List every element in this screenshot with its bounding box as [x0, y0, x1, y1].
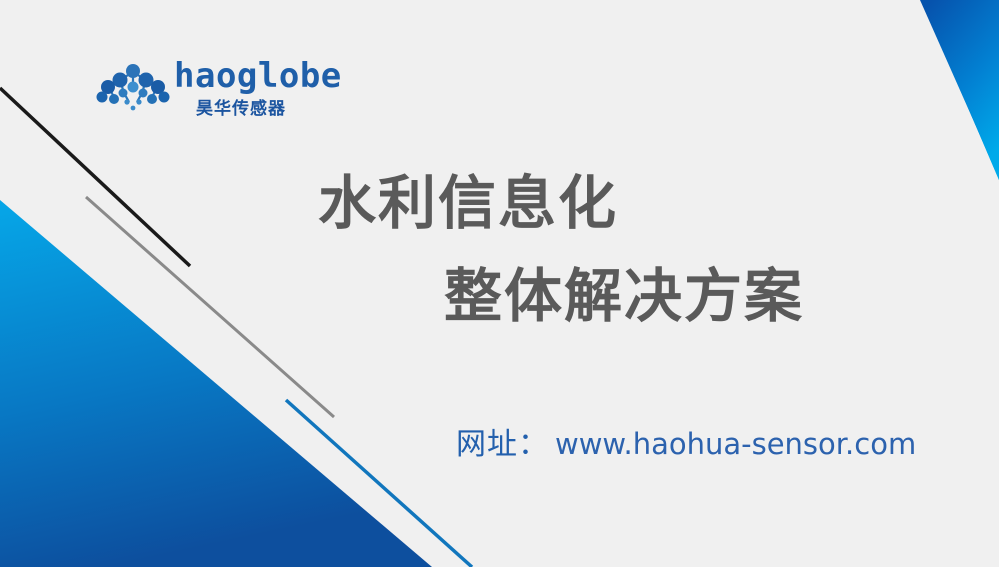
website-row: 网址： www.haohua-sensor.com	[456, 419, 916, 463]
haoglobe-dot-cluster-logo-icon	[96, 60, 170, 116]
page-title-line-2: 整体解决方案	[444, 265, 804, 327]
website-label: 网址：	[456, 419, 549, 463]
website-url[interactable]: www.haohua-sensor.com	[555, 427, 916, 461]
logo-text-group: haoglobe 昊华传感器	[174, 58, 324, 116]
logo-subtitle: 昊华传感器	[196, 94, 286, 119]
logo-wordmark: haoglobe	[174, 58, 342, 94]
presentation-title-slide: haoglobe 昊华传感器 水利信息化 整体解决方案 网址： www.haoh…	[0, 0, 999, 567]
company-logo: haoglobe 昊华传感器	[96, 58, 326, 120]
page-title-line-1: 水利信息化	[318, 172, 618, 234]
